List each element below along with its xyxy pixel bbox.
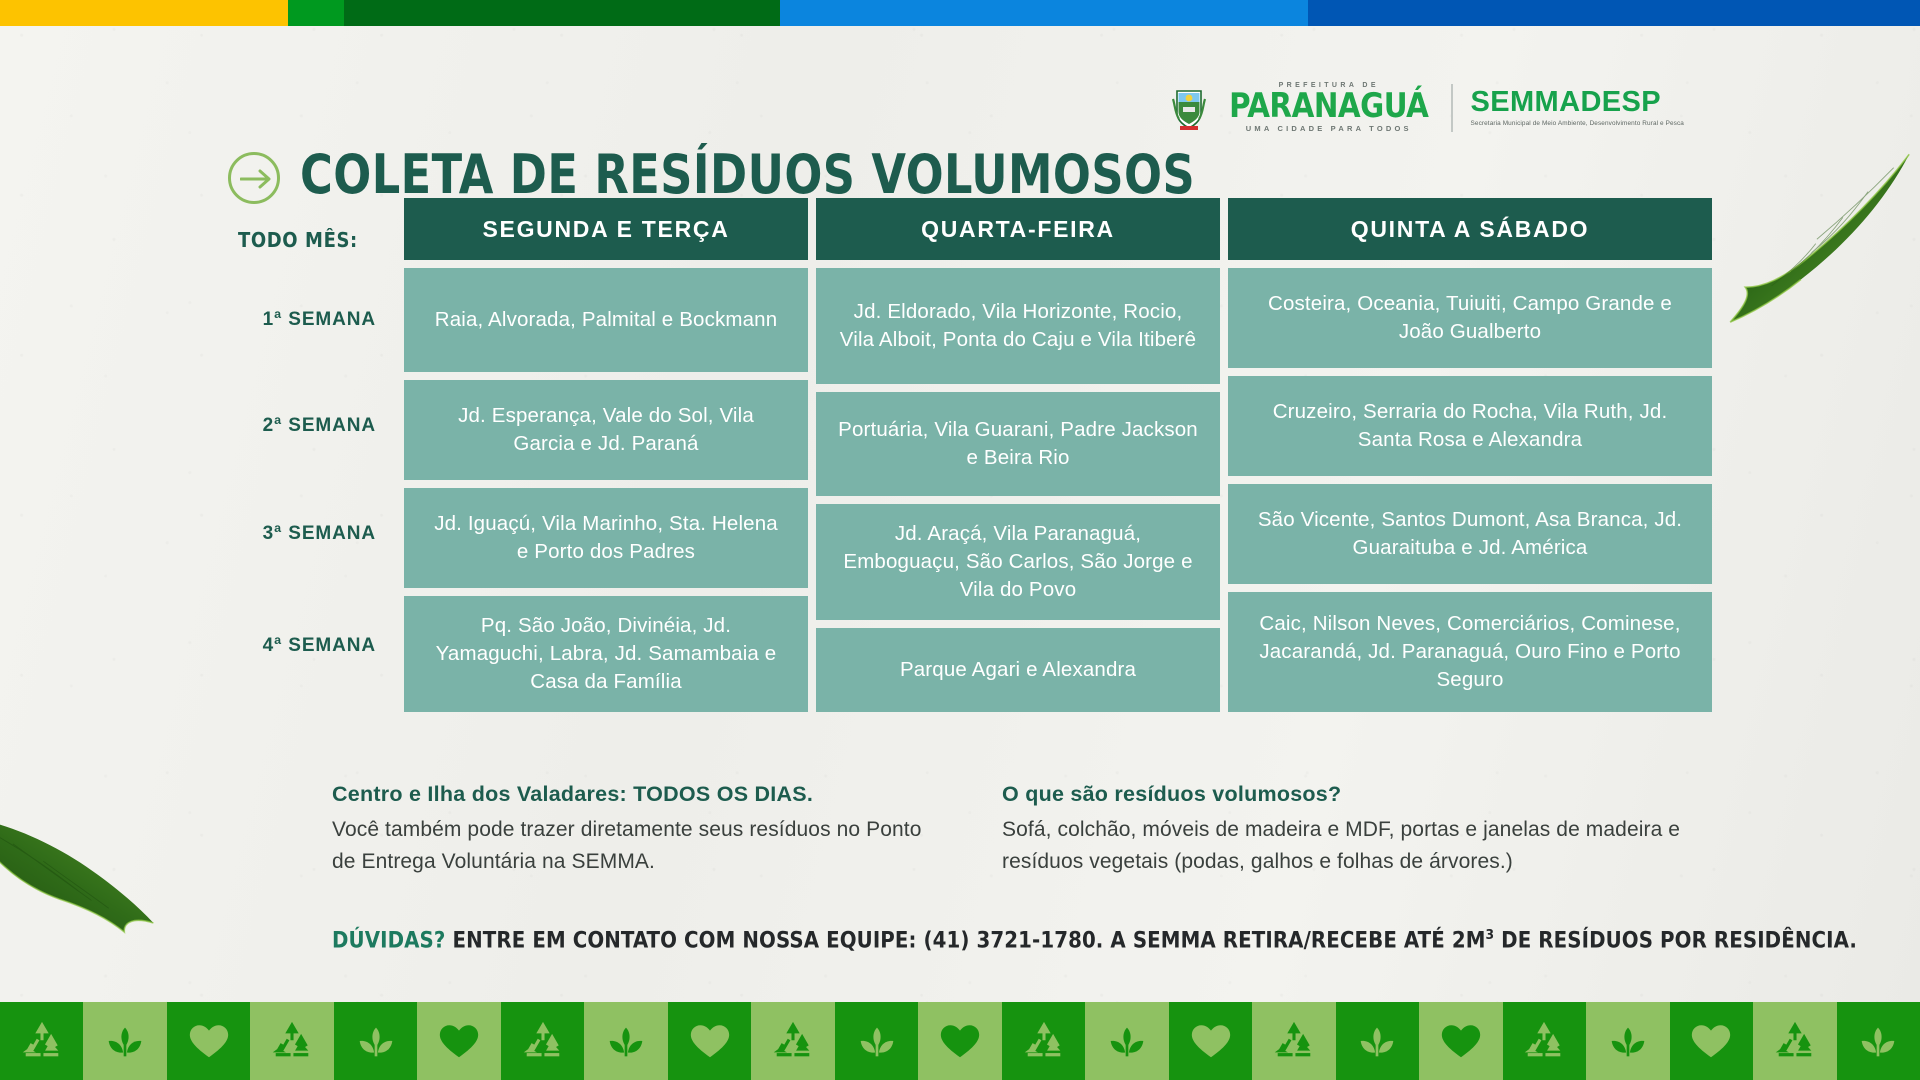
- eco-tile-recycle-icon: [751, 1002, 834, 1080]
- eco-icon-strip: [0, 1002, 1920, 1080]
- column-header-quinta-sabado: QUINTA A SÁBADO: [1228, 198, 1712, 260]
- footer-contact-note: DÚVIDAS? ENTRE EM CONTATO COM NOSSA EQUI…: [332, 927, 1857, 953]
- eco-tile-plant-icon: [1085, 1002, 1168, 1080]
- table-cell: Jd. Eldorado, Vila Horizonte, Rocio, Vil…: [816, 268, 1220, 384]
- eco-tile-heart-icon: [1419, 1002, 1502, 1080]
- recycle-icon: [1271, 1018, 1317, 1064]
- plant-icon: [854, 1018, 900, 1064]
- top-bar-segment-dark-blue: [1308, 0, 1920, 26]
- column-header-segunda-terca: SEGUNDA E TERÇA: [404, 198, 808, 260]
- eco-tile-plant-icon: [334, 1002, 417, 1080]
- top-bar-segment-bright-green: [288, 0, 344, 26]
- info-heading: Centro e Ilha dos Valadares: TODOS OS DI…: [332, 782, 932, 807]
- info-body: Sofá, colchão, móveis de madeira e MDF, …: [1002, 814, 1702, 878]
- leaf-icon: [0, 789, 184, 961]
- week-label-column: 1ª SEMANA 2ª SEMANA 3ª SEMANA 4ª SEMANA: [228, 268, 396, 704]
- plant-icon: [102, 1018, 148, 1064]
- eco-tile-heart-icon: [1169, 1002, 1252, 1080]
- info-heading: O que são resíduos volumosos?: [1002, 782, 1702, 807]
- table-cell: Raia, Alvorada, Palmital e Bockmann: [404, 268, 808, 372]
- recycle-icon: [19, 1018, 65, 1064]
- corner-cell: TODO MÊS:: [228, 198, 396, 252]
- column-segunda-terca: Raia, Alvorada, Palmital e Bockmann Jd. …: [404, 268, 808, 712]
- table-header-row: TODO MÊS: SEGUNDA E TERÇA QUARTA-FEIRA Q…: [228, 198, 1698, 260]
- leaf-icon: [1685, 150, 1920, 359]
- recycle-icon: [1521, 1018, 1567, 1064]
- eco-tile-plant-icon: [584, 1002, 667, 1080]
- plant-icon: [1104, 1018, 1150, 1064]
- footer-superscript: 3: [1486, 927, 1495, 943]
- table-cell: Pq. São João, Divinéia, Jd. Yamaguchi, L…: [404, 596, 808, 712]
- heart-icon: [186, 1018, 232, 1064]
- heart-icon: [436, 1018, 482, 1064]
- info-body: Você também pode trazer diretamente seus…: [332, 814, 932, 878]
- column-header-quarta-feira: QUARTA-FEIRA: [816, 198, 1220, 260]
- todo-mes-label: TODO MÊS:: [228, 198, 396, 252]
- eco-tile-heart-icon: [417, 1002, 500, 1080]
- eco-tile-plant-icon: [1837, 1002, 1920, 1080]
- eco-tile-heart-icon: [668, 1002, 751, 1080]
- eco-tile-plant-icon: [1586, 1002, 1669, 1080]
- eco-tile-heart-icon: [167, 1002, 250, 1080]
- recycle-icon: [1772, 1018, 1818, 1064]
- eco-tile-recycle-icon: [1503, 1002, 1586, 1080]
- eco-tile-plant-icon: [1336, 1002, 1419, 1080]
- recycle-icon: [770, 1018, 816, 1064]
- heart-icon: [1688, 1018, 1734, 1064]
- top-bar-segment-yellow: [0, 0, 288, 26]
- eco-tile-plant-icon: [83, 1002, 166, 1080]
- eco-tile-recycle-icon: [501, 1002, 584, 1080]
- table-cell: Jd. Iguaçú, Vila Marinho, Sta. Helena e …: [404, 488, 808, 588]
- plant-icon: [1605, 1018, 1651, 1064]
- top-color-bar: [0, 0, 1920, 26]
- footer-text-before: ENTRE EM CONTATO COM NOSSA EQUIPE: (41) …: [445, 928, 1485, 953]
- info-block-residuos-volumosos: O que são resíduos volumosos? Sofá, colc…: [1002, 782, 1702, 878]
- eco-tile-recycle-icon: [0, 1002, 83, 1080]
- table-cell: Costeira, Oceania, Tuiuiti, Campo Grande…: [1228, 268, 1712, 368]
- week-label-1: 1ª SEMANA: [228, 268, 396, 372]
- footer-question: DÚVIDAS?: [332, 928, 445, 953]
- column-quinta-sabado: Costeira, Oceania, Tuiuiti, Campo Grande…: [1228, 268, 1712, 712]
- eco-tile-recycle-icon: [1252, 1002, 1335, 1080]
- table-cell: Parque Agari e Alexandra: [816, 628, 1220, 712]
- eco-tile-plant-icon: [835, 1002, 918, 1080]
- plant-icon: [1855, 1018, 1901, 1064]
- plant-icon: [353, 1018, 399, 1064]
- week-label-3: 3ª SEMANA: [228, 480, 396, 588]
- eco-tile-recycle-icon: [250, 1002, 333, 1080]
- table-cell: Caic, Nilson Neves, Comerciários, Comine…: [1228, 592, 1712, 712]
- heart-icon: [1188, 1018, 1234, 1064]
- table-body: 1ª SEMANA 2ª SEMANA 3ª SEMANA 4ª SEMANA …: [228, 268, 1698, 712]
- page-header: COLETA DE RESÍDUOS VOLUMOSOS: [0, 56, 1920, 166]
- collection-schedule-table: TODO MÊS: SEGUNDA E TERÇA QUARTA-FEIRA Q…: [228, 198, 1698, 712]
- plant-icon: [603, 1018, 649, 1064]
- top-bar-segment-dark-green: [344, 0, 780, 26]
- eco-tile-recycle-icon: [1753, 1002, 1836, 1080]
- table-cell: Cruzeiro, Serraria do Rocha, Vila Ruth, …: [1228, 376, 1712, 476]
- page-title: COLETA DE RESÍDUOS VOLUMOSOS: [300, 148, 1195, 202]
- info-block-centro-ilha: Centro e Ilha dos Valadares: TODOS OS DI…: [332, 782, 932, 878]
- table-cell: São Vicente, Santos Dumont, Asa Branca, …: [1228, 484, 1712, 584]
- recycle-icon: [520, 1018, 566, 1064]
- heart-icon: [937, 1018, 983, 1064]
- week-label-2: 2ª SEMANA: [228, 372, 396, 480]
- heart-icon: [1438, 1018, 1484, 1064]
- recycle-icon: [269, 1018, 315, 1064]
- recycle-icon: [1021, 1018, 1067, 1064]
- plant-icon: [1354, 1018, 1400, 1064]
- week-label-4: 4ª SEMANA: [228, 588, 396, 704]
- table-cell: Jd. Araçá, Vila Paranaguá, Emboguaçu, Sã…: [816, 504, 1220, 620]
- footer-text-after: DE RESÍDUOS POR RESIDÊNCIA.: [1494, 928, 1857, 953]
- arrow-right-circle-icon: [228, 152, 280, 204]
- eco-tile-heart-icon: [918, 1002, 1001, 1080]
- table-cell: Jd. Esperança, Vale do Sol, Vila Garcia …: [404, 380, 808, 480]
- eco-tile-heart-icon: [1670, 1002, 1753, 1080]
- column-quarta-feira: Jd. Eldorado, Vila Horizonte, Rocio, Vil…: [816, 268, 1220, 712]
- table-cell: Portuária, Vila Guarani, Padre Jackson e…: [816, 392, 1220, 496]
- eco-tile-recycle-icon: [1002, 1002, 1085, 1080]
- heart-icon: [687, 1018, 733, 1064]
- top-bar-segment-light-blue: [780, 0, 1308, 26]
